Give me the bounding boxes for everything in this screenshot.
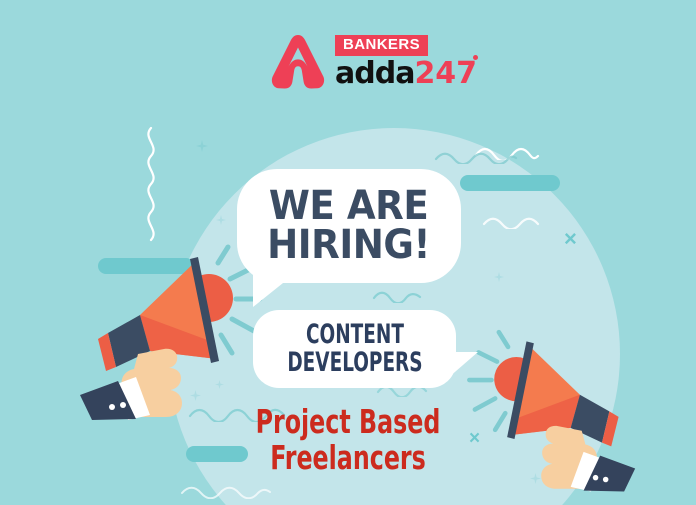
- role-line-2: DEVELOPERS: [287, 349, 422, 377]
- speech-bubble-tail: [253, 275, 293, 307]
- cuff-button-icon: [593, 475, 599, 481]
- role-text: CONTENT DEVELOPERS: [287, 321, 422, 376]
- wordmark-adda: adda: [335, 59, 414, 89]
- wavy-line-horizontal-icon: [180, 483, 272, 499]
- wavy-line-vertical-icon: [138, 126, 164, 248]
- headline-line-2: Freelancers: [70, 440, 627, 476]
- poster-canvas: × × BANKERS adda 247: [0, 0, 696, 505]
- rounded-bar-decoration: [460, 175, 560, 191]
- headline-line-1: Project Based: [70, 404, 627, 440]
- headline-freelancers: Project Based Freelancers: [0, 404, 696, 475]
- megaphone-left-illustration: [78, 255, 268, 420]
- hiring-text: WE ARE HIRING!: [268, 187, 431, 265]
- cuff-button-icon: [603, 477, 609, 483]
- speech-bubble-role: CONTENT DEVELOPERS: [253, 310, 456, 388]
- speech-bubble-hiring: WE ARE HIRING!: [237, 169, 461, 283]
- wordmark-dot-icon: [473, 55, 478, 60]
- hiring-line-1: WE ARE: [268, 187, 431, 226]
- hiring-line-2: HIRING!: [268, 226, 431, 265]
- wavy-line-horizontal-icon: [434, 150, 518, 164]
- bankers-badge: BANKERS: [335, 35, 428, 56]
- adda247-a-mark-icon: [270, 33, 326, 91]
- diamond-sparkle-icon: [196, 140, 208, 152]
- cross-mark-icon: ×: [564, 228, 577, 250]
- wordmark-247-text: 247: [414, 56, 477, 91]
- wavy-line-horizontal-icon: [482, 215, 542, 229]
- brand-logo[interactable]: BANKERS adda 247: [270, 32, 440, 92]
- logo-wordmark: BANKERS adda 247: [335, 35, 477, 89]
- wordmark-247: 247: [414, 59, 477, 89]
- role-line-1: CONTENT: [287, 321, 422, 349]
- adda247-wordmark: adda 247: [335, 59, 477, 89]
- wavy-line-horizontal-icon: [372, 289, 424, 303]
- speech-bubble-tail: [448, 352, 478, 378]
